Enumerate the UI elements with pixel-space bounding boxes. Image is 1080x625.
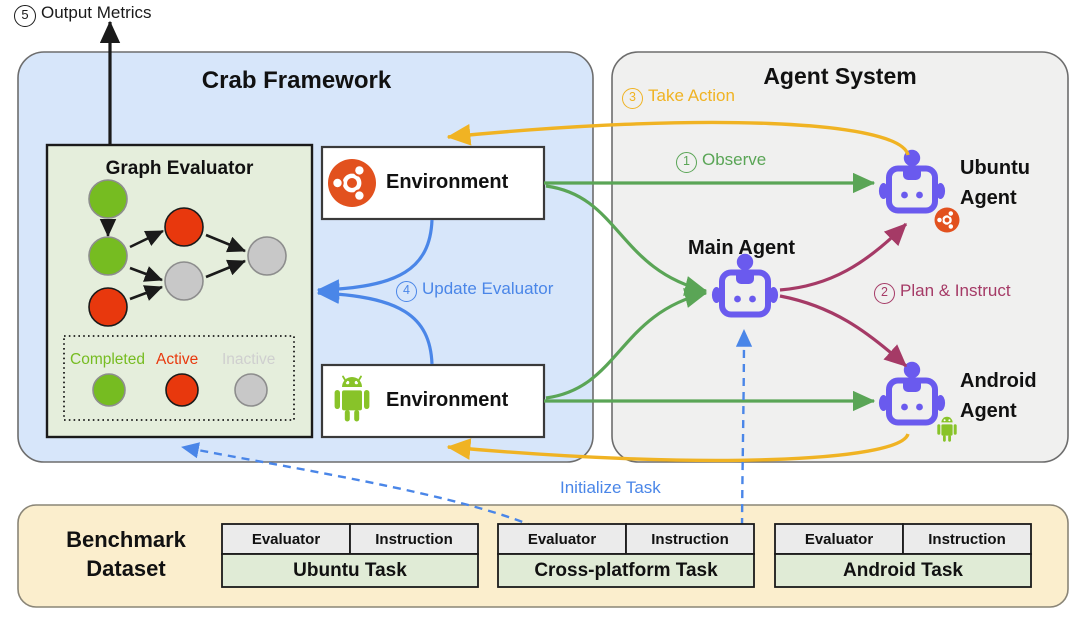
step-4-badge: 4 <box>396 281 417 302</box>
ubuntu-agent-label-line1: Ubuntu <box>960 157 1030 180</box>
graph-node-inactive <box>248 237 286 275</box>
step-2-badge: 2 <box>874 283 895 304</box>
graph-legend-swatches <box>93 374 267 406</box>
diagram-canvas: 5 Output Metrics Crab Framework Agent Sy… <box>0 0 1080 625</box>
legend-label-inactive: Inactive <box>222 351 275 369</box>
environment-label-ubuntu: Environment <box>386 171 508 194</box>
task-column-instruction[interactable]: Instruction <box>903 531 1031 548</box>
output-metrics-label: Output Metrics <box>41 3 152 23</box>
android-agent-label-line1: Android <box>960 370 1037 393</box>
ubuntu-icon <box>328 159 376 207</box>
graph-node-completed <box>89 180 127 218</box>
main-agent-label: Main Agent <box>688 237 795 260</box>
task-name-ubuntu[interactable]: Ubuntu Task <box>222 560 478 582</box>
legend-swatch-active <box>166 374 198 406</box>
task-name-android[interactable]: Android Task <box>775 560 1031 582</box>
legend-swatch-inactive <box>235 374 267 406</box>
task-column-evaluator[interactable]: Evaluator <box>222 531 350 548</box>
step-2-label: Plan & Instruct <box>900 281 1011 301</box>
step-5-badge: 5 <box>14 5 36 27</box>
benchmark-dataset-title-line1: Benchmark <box>36 527 216 553</box>
graph-node-active <box>89 288 127 326</box>
initialize-task-label: Initialize Task <box>560 478 661 498</box>
task-column-instruction[interactable]: Instruction <box>626 531 754 548</box>
step-1-badge: 1 <box>676 152 697 173</box>
task-column-instruction[interactable]: Instruction <box>350 531 478 548</box>
step-4-label: Update Evaluator <box>422 279 553 299</box>
task-column-evaluator[interactable]: Evaluator <box>775 531 903 548</box>
ubuntu-badge-icon <box>935 208 960 233</box>
step-1-label: Observe <box>702 150 766 170</box>
step-3-badge: 3 <box>622 88 643 109</box>
graph-node-completed <box>89 237 127 275</box>
benchmark-dataset-title-line2: Dataset <box>36 556 216 582</box>
crab-framework-title: Crab Framework <box>0 67 593 95</box>
graph-node-inactive <box>165 262 203 300</box>
task-name-cross-platform[interactable]: Cross-platform Task <box>498 560 754 582</box>
graph-node-active <box>165 208 203 246</box>
graph-evaluator-title: Graph Evaluator <box>47 158 312 180</box>
legend-swatch-completed <box>93 374 125 406</box>
task-column-evaluator[interactable]: Evaluator <box>498 531 626 548</box>
environment-label-android: Environment <box>386 389 508 412</box>
android-agent-label-line2: Agent <box>960 400 1017 423</box>
step-3-label: Take Action <box>648 86 735 106</box>
ubuntu-agent-label-line2: Agent <box>960 187 1017 210</box>
legend-label-active: Active <box>156 351 198 369</box>
legend-label-completed: Completed <box>70 351 145 369</box>
